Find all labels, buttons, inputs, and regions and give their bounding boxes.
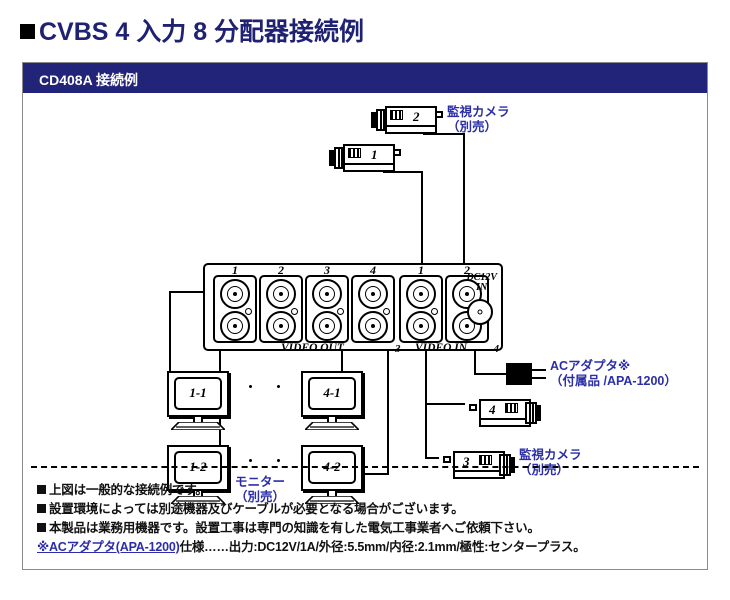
ac-adapter-label-line2: （付属品 /APA-1200）	[550, 374, 677, 388]
section-divider	[31, 466, 699, 468]
camera-4: 4	[465, 396, 541, 430]
camera-1: 1	[329, 141, 405, 175]
bnc-connector[interactable]	[266, 279, 296, 309]
bnc-connector[interactable]	[312, 279, 342, 309]
video-out-group-2-number: 2	[278, 263, 284, 278]
bnc-connector[interactable]	[312, 311, 342, 341]
ac-adapter-body	[506, 363, 532, 385]
bnc-connector[interactable]	[406, 311, 436, 341]
video-in-group-4-number: 4	[494, 343, 500, 355]
page-title: CVBS 4 入力 8 分配器接続例	[20, 20, 364, 45]
screw-icon	[383, 308, 390, 315]
ac-adapter	[506, 361, 546, 387]
camera-4-plug	[469, 404, 477, 411]
note-line: 設置環境によっては別途機器及びケーブルが必要となる場合がございます。	[37, 500, 697, 519]
video-in-group-3-number: 3	[395, 343, 401, 355]
note-text: 上図は一般的な接続例です。	[49, 483, 208, 497]
camera-grill-icon	[479, 455, 492, 465]
screw-icon	[245, 308, 252, 315]
wire-cam1-vertical	[421, 171, 423, 273]
ellipsis-dot	[277, 385, 280, 388]
bnc-connector[interactable]	[220, 311, 250, 341]
video-out-group-3: 3	[305, 275, 349, 343]
video-splitter-device: 1 2 3 4	[203, 263, 503, 351]
note-bullet-icon	[37, 485, 46, 494]
video-out-group-1: 1	[213, 275, 257, 343]
camera-hood-icon	[509, 457, 515, 473]
bnc-connector[interactable]	[358, 311, 388, 341]
camera-bottom-label-line1: 監視カメラ	[519, 448, 582, 462]
camera-top-label: 監視カメラ （別売）	[447, 105, 510, 135]
wire-in4-horizontal	[425, 403, 465, 405]
camera-bottom-label: 監視カメラ （別売）	[519, 448, 582, 478]
wire-dc-horizontal	[474, 373, 508, 375]
monitor-case: 4-1	[301, 371, 363, 417]
ac-adapter-pin-icon	[532, 377, 546, 379]
ac-adapter-pin-icon	[532, 369, 546, 371]
video-out-label: VIDEO OUT	[281, 342, 344, 354]
monitor-4-1-number: 4-1	[303, 385, 361, 401]
bnc-connector[interactable]	[220, 279, 250, 309]
diagram-panel: CD408A 接続例 1	[22, 62, 708, 570]
screw-icon	[291, 308, 298, 315]
camera-2-plug	[435, 111, 443, 118]
bnc-connector[interactable]	[266, 311, 296, 341]
dc12v-power-jack[interactable]	[467, 299, 493, 325]
notes-list: 上図は一般的な接続例です。 設置環境によっては別途機器及びケーブルが必要となる場…	[37, 481, 697, 557]
ac-adapter-label-line1: ACアダプタ※	[550, 359, 630, 373]
camera-1-plug	[393, 149, 401, 156]
video-in-group-1: 1 3	[399, 275, 443, 343]
monitor-1-1: 1-1	[167, 371, 229, 429]
note-text: 本製品は業務用機器です。設置工事は専門の知識を有した電気工事業者へご依頼下さい。	[49, 521, 540, 535]
camera-3: 3	[439, 448, 515, 482]
title-bullet-icon	[20, 24, 35, 39]
wire-out1a-vertical	[169, 291, 171, 371]
video-out-group-2: 2	[259, 275, 303, 343]
monitor-base	[171, 422, 225, 430]
camera-grill-icon	[348, 148, 361, 158]
ac-adapter-label: ACアダプタ※ （付属品 /APA-1200）	[550, 359, 677, 389]
note-line: 本製品は業務用機器です。設置工事は専門の知識を有した電気工事業者へご依頼下さい。	[37, 519, 697, 538]
ellipsis-dot	[277, 459, 280, 462]
camera-4-number: 4	[489, 402, 496, 418]
video-out-group-3-number: 3	[324, 263, 330, 278]
spec-note-rest: 仕様……出力:DC12V/1A/外径:5.5mm/内径:2.1mm/極性:センタ…	[180, 540, 586, 554]
connection-diagram: 1 2 3 4	[23, 93, 707, 461]
camera-top-label-line2: （別売）	[447, 120, 497, 134]
screw-icon	[431, 308, 438, 315]
screw-icon	[337, 308, 344, 315]
note-bullet-icon	[37, 504, 46, 513]
panel-header: CD408A 接続例	[23, 63, 707, 93]
camera-3-plug	[443, 456, 451, 463]
video-out-group-1-number: 1	[232, 263, 238, 278]
ac-adapter-spec-link[interactable]: ※ACアダプタ(APA-1200)	[37, 540, 180, 554]
camera-2-number: 2	[413, 109, 420, 125]
camera-grill-icon	[505, 403, 518, 413]
video-in-group-1-number: 1	[418, 263, 424, 278]
dc12v-label-line2: IN	[476, 282, 487, 293]
video-out-group-4: 4	[351, 275, 395, 343]
monitor-1-1-number: 1-1	[169, 385, 227, 401]
dc12v-in-label: DC12V IN	[466, 273, 497, 293]
monitor-case: 1-1	[167, 371, 229, 417]
panel-header-label: CD408A 接続例	[39, 70, 138, 90]
video-out-group-4-number: 4	[370, 263, 376, 278]
video-in-label: VIDEO IN	[415, 342, 467, 354]
camera-grill-icon	[390, 110, 403, 120]
ellipsis-dot	[249, 385, 252, 388]
bnc-connector[interactable]	[358, 279, 388, 309]
camera-hood-icon	[535, 405, 541, 421]
note-text: 設置環境によっては別途機器及びケーブルが必要となる場合がございます。	[49, 502, 464, 516]
wire-in3-horizontal	[425, 457, 439, 459]
camera-2: 2	[371, 103, 447, 137]
monitor-4-1: 4-1	[301, 371, 363, 429]
note-bullet-icon	[37, 523, 46, 532]
ellipsis-dot	[249, 459, 252, 462]
note-line: 上図は一般的な接続例です。	[37, 481, 697, 500]
spec-note-line: ※ACアダプタ(APA-1200)仕様……出力:DC12V/1A/外径:5.5m…	[37, 538, 697, 557]
camera-top-label-line1: 監視カメラ	[447, 105, 510, 119]
camera-1-number: 1	[371, 147, 378, 163]
page-title-text: CVBS 4 入力 8 分配器接続例	[39, 18, 364, 46]
wire-cam2-vertical	[463, 133, 465, 273]
monitor-base	[305, 422, 359, 430]
bnc-connector[interactable]	[406, 279, 436, 309]
